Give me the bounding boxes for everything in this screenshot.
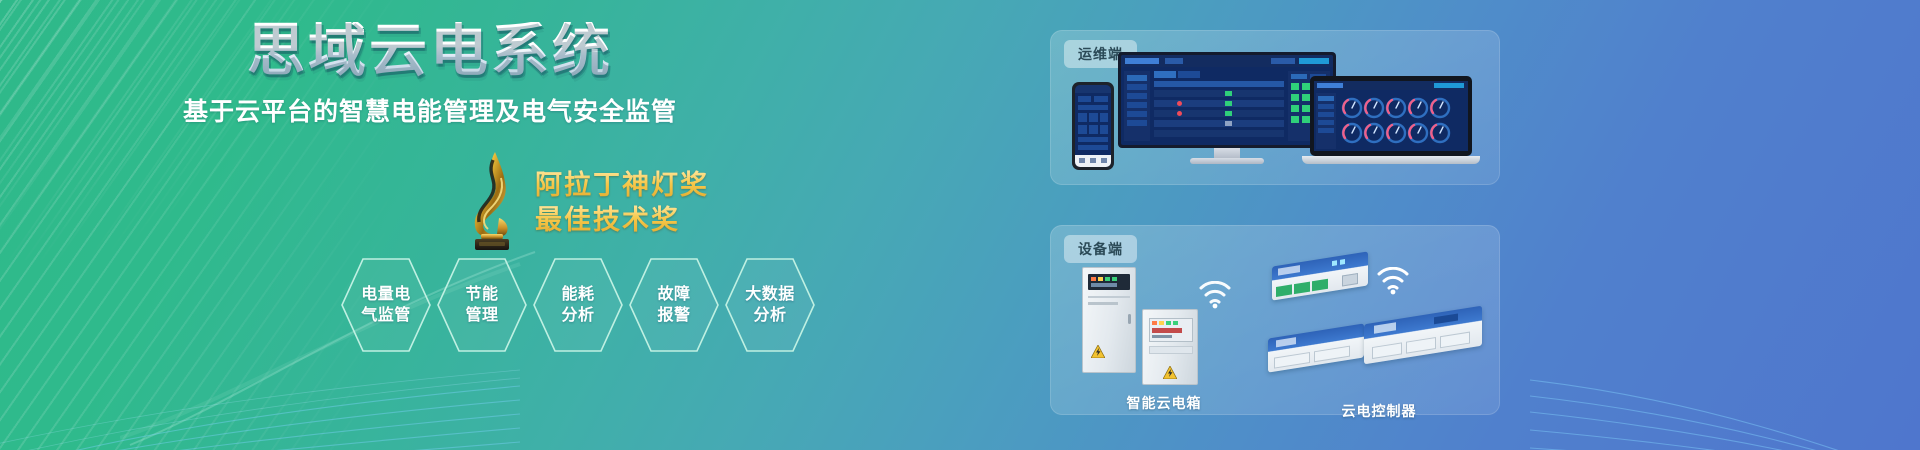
wifi-signal-icon [1198, 281, 1232, 309]
trophy-flame-icon [455, 148, 527, 253]
device-caption-1: 云电控制器 [1268, 401, 1490, 421]
wifi-signal-icon [1376, 267, 1410, 295]
gauge-dials-group [1340, 95, 1464, 147]
feature-tag-line1-3: 故障 [657, 284, 690, 305]
cloud-electric-controller: 云电控制器 [1268, 257, 1490, 391]
feature-tag-line1-2: 能耗 [561, 284, 594, 305]
feature-tag-label-4: 大数据 分析 [724, 255, 816, 355]
feature-tag-line2-2: 分析 [561, 305, 594, 326]
feature-tag-4[interactable]: 大数据 分析 [724, 255, 816, 355]
device-caption-0: 智能云电箱 [1064, 393, 1264, 413]
feature-tag-line2-0: 气监管 [361, 305, 411, 326]
device-panel-tag: 设备端 [1064, 235, 1137, 263]
feature-tag-label-1: 节能 管理 [436, 255, 528, 355]
feature-tag-line2-1: 管理 [465, 305, 498, 326]
award-line-1: 阿拉丁神灯奖 [535, 168, 709, 203]
laptop-mockup [1302, 76, 1480, 168]
page-title: 思域云电系统 [0, 22, 860, 80]
electrical-hazard-icon [1091, 345, 1105, 358]
feature-tag-3[interactable]: 故障 报警 [628, 255, 720, 355]
feature-tag-line2-3: 报警 [657, 305, 690, 326]
ops-terminal-panel: 运维端 [1050, 30, 1500, 185]
feature-tag-label-0: 电量电 气监管 [340, 255, 432, 355]
feature-tag-label-3: 故障 报警 [628, 255, 720, 355]
feature-tags-row: 电量电 气监管 节能 管理 能耗 分析 [340, 255, 860, 355]
device-terminal-panel: 设备端 [1050, 225, 1500, 415]
feature-tag-label-2: 能耗 分析 [532, 255, 624, 355]
feature-tag-line1-0: 电量电 [361, 284, 411, 305]
wave-lines-decoration-right [1530, 260, 1920, 450]
feature-tag-line1-4: 大数据 [745, 284, 795, 305]
award-line-2: 最佳技术奖 [535, 203, 709, 238]
feature-tag-1[interactable]: 节能 管理 [436, 255, 528, 355]
left-content-column: 思域云电系统 思域云电系统 基于云平台的智慧电能管理及电气安全监管 [0, 0, 860, 450]
page-subtitle: 基于云平台的智慧电能管理及电气安全监管 [0, 92, 860, 128]
feature-tag-2[interactable]: 能耗 分析 [532, 255, 624, 355]
smart-cloud-electric-box: 智能云电箱 [1064, 263, 1264, 391]
smartphone-mockup [1072, 82, 1114, 170]
feature-tag-line2-4: 分析 [753, 305, 786, 326]
electrical-hazard-icon [1163, 366, 1177, 379]
feature-tag-line1-1: 节能 [465, 284, 498, 305]
feature-tag-0[interactable]: 电量电 气监管 [340, 255, 432, 355]
promo-banner: 思域云电系统 思域云电系统 基于云平台的智慧电能管理及电气安全监管 [0, 0, 1920, 450]
awards-list: 阿拉丁神灯奖 最佳技术奖 [535, 168, 709, 238]
